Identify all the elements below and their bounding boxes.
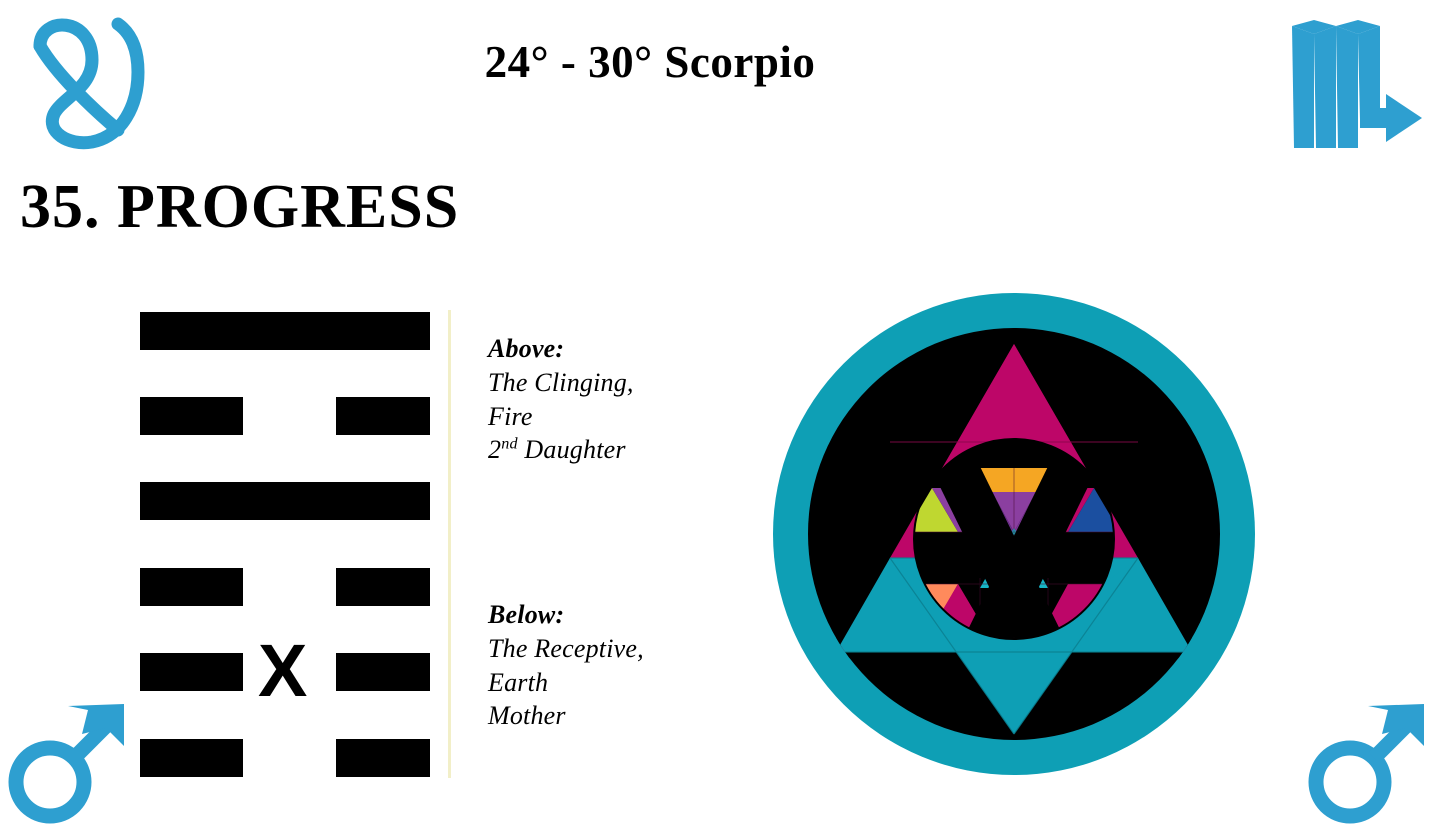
trigram-above-line1: The Clinging, bbox=[488, 366, 634, 400]
trigram-above: Above: The Clinging, Fire 2nd Daughter bbox=[488, 332, 634, 467]
hexagram-diagram: X bbox=[140, 312, 430, 777]
line-segment-left bbox=[140, 653, 243, 691]
hexagram-mandala-artwork bbox=[772, 292, 1256, 776]
page-title: 35. PROGRESS bbox=[20, 172, 459, 243]
hexagram-line-1 bbox=[140, 739, 430, 777]
trigram-above-line2: Fire bbox=[488, 400, 634, 434]
trigram-below-line1: The Receptive, bbox=[488, 632, 644, 666]
hexagram-line-4 bbox=[140, 482, 430, 520]
trigram-below-heading: Below: bbox=[488, 598, 644, 632]
mars-icon bbox=[1302, 684, 1432, 834]
ordinal-number: 2 bbox=[488, 435, 501, 464]
moving-line-marker: X bbox=[258, 634, 307, 708]
slide-root: 24° - 30° Scorpio 35. PROGRESS X Above: … bbox=[0, 0, 1432, 837]
trigram-below-line3: Mother bbox=[488, 699, 644, 733]
strut-horizontal bbox=[904, 538, 1124, 578]
line-segment bbox=[140, 482, 430, 520]
line-segment-right bbox=[336, 739, 430, 777]
line-segment-left bbox=[140, 568, 243, 606]
line-segment-right bbox=[336, 653, 430, 691]
ordinal-rest: Daughter bbox=[518, 435, 626, 464]
hexagram-line-6 bbox=[140, 312, 430, 350]
hexagram-line-5 bbox=[140, 397, 430, 435]
line-segment-left bbox=[140, 739, 243, 777]
ordinal-suffix: nd bbox=[501, 436, 518, 453]
scorpio-icon bbox=[1286, 8, 1426, 158]
mars-icon bbox=[2, 684, 132, 834]
hexagram-line-3 bbox=[140, 568, 430, 606]
trigram-below-line2: Earth bbox=[488, 666, 644, 700]
vertical-divider bbox=[448, 310, 451, 778]
trigram-below: Below: The Receptive, Earth Mother bbox=[488, 598, 644, 733]
trigram-above-heading: Above: bbox=[488, 332, 634, 366]
line-segment-right bbox=[336, 397, 430, 435]
line-segment bbox=[140, 312, 430, 350]
trigram-above-line3: 2nd Daughter bbox=[488, 433, 634, 467]
degree-range-title: 24° - 30° Scorpio bbox=[0, 36, 1300, 88]
line-segment-left bbox=[140, 397, 243, 435]
line-segment-right bbox=[336, 568, 430, 606]
